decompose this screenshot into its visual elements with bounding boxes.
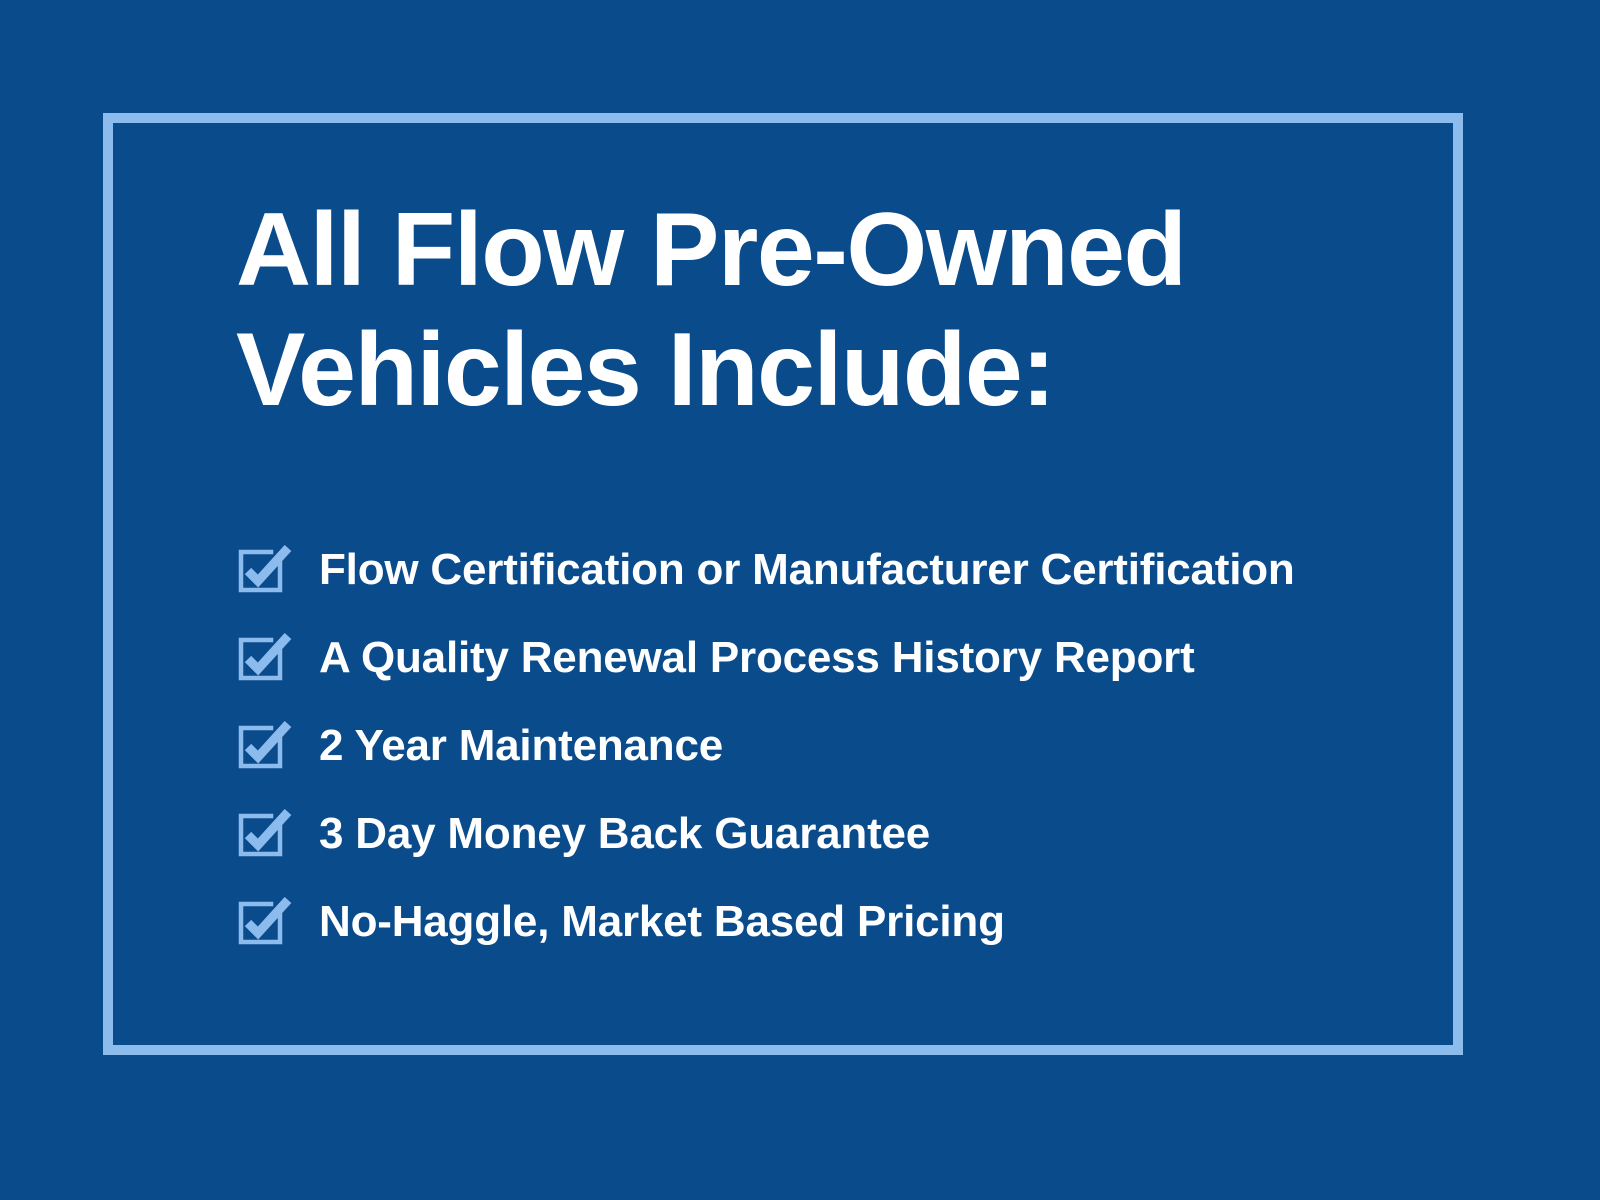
poster-content: All Flow Pre-Owned Vehicles Include: Flo… <box>236 190 1436 430</box>
list-item: Flow Certification or Manufacturer Certi… <box>236 526 1436 614</box>
list-item: 3 Day Money Back Guarantee <box>236 790 1436 878</box>
benefits-checklist: Flow Certification or Manufacturer Certi… <box>236 526 1436 966</box>
list-item: A Quality Renewal Process History Report <box>236 614 1436 702</box>
checked-checkbox-icon <box>236 721 292 771</box>
promo-poster: All Flow Pre-Owned Vehicles Include: Flo… <box>0 0 1600 1200</box>
list-item: 2 Year Maintenance <box>236 702 1436 790</box>
checked-checkbox-icon <box>236 809 292 859</box>
checked-checkbox-icon <box>236 633 292 683</box>
page-title: All Flow Pre-Owned Vehicles Include: <box>236 190 1436 430</box>
list-item-label: 3 Day Money Back Guarantee <box>319 809 930 859</box>
list-item-label: A Quality Renewal Process History Report <box>319 633 1195 683</box>
list-item-label: Flow Certification or Manufacturer Certi… <box>319 545 1295 595</box>
list-item-label: No-Haggle, Market Based Pricing <box>319 897 1005 947</box>
list-item: No-Haggle, Market Based Pricing <box>236 878 1436 966</box>
checked-checkbox-icon <box>236 545 292 595</box>
checked-checkbox-icon <box>236 897 292 947</box>
list-item-label: 2 Year Maintenance <box>319 721 723 771</box>
